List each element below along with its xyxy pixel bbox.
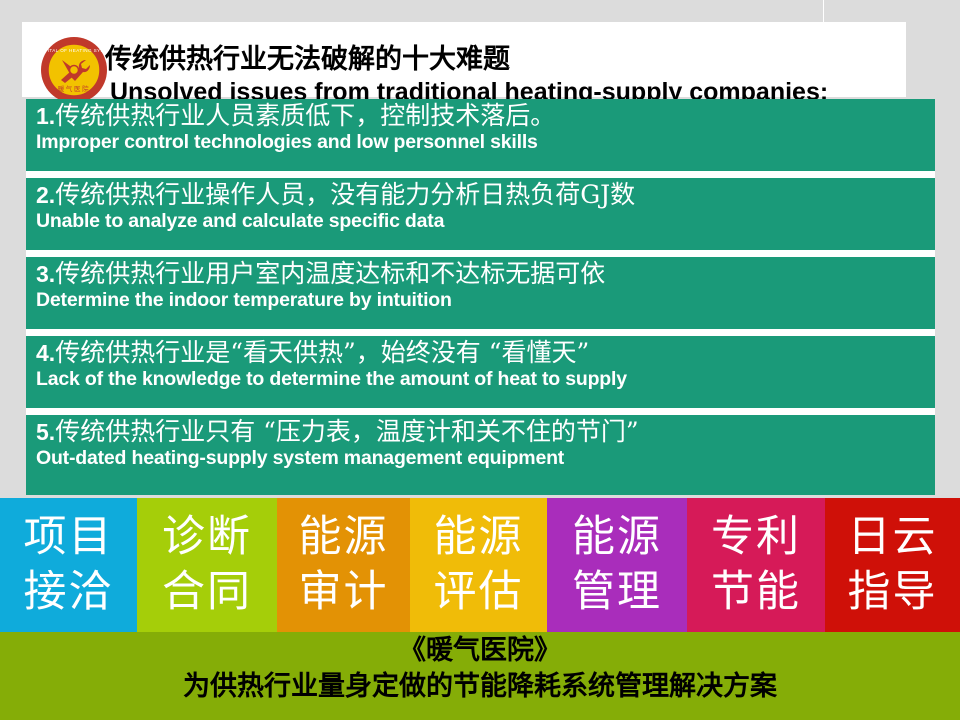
service-tile-energy-audit[interactable]: 能源 审计 — [277, 498, 410, 632]
issue-text-chinese: 2.传统供热行业操作人员，没有能力分析日热负荷GJ数 — [36, 180, 635, 210]
service-tile-diagnosis-contract[interactable]: 诊断 合同 — [137, 498, 277, 632]
tile-line-1: 专利 — [711, 510, 801, 565]
tile-line-2: 指导 — [848, 565, 938, 620]
issue-number: 1. — [36, 103, 55, 129]
service-tile-energy-management[interactable]: 能源 管理 — [547, 498, 687, 632]
issue-text-english: Determine the indoor temperature by intu… — [36, 291, 452, 311]
tile-line-2: 审计 — [299, 565, 389, 620]
tile-line-2: 节能 — [711, 565, 801, 620]
tile-line-1: 能源 — [299, 510, 389, 565]
issue-item-2: 2.传统供热行业操作人员，没有能力分析日热负荷GJ数 Unable to ana… — [26, 178, 935, 250]
service-tile-strip: 项目 接洽 诊断 合同 能源 审计 能源 评估 能源 管理 专利 节能 日云 指… — [0, 498, 960, 632]
issue-number: 3. — [36, 261, 55, 287]
issue-item-1: 1.传统供热行业人员素质低下，控制技术落后。 Improper control … — [26, 99, 935, 171]
issue-chinese-body: 传统供热行业人员素质低下，控制技术落后。 — [55, 101, 555, 130]
presentation-slide: HOSPITAL OF HEATING SYSTEM 暖气医院 传统供热行业无法… — [0, 0, 960, 720]
footer-brand-name: 《暖气医院》 — [0, 636, 960, 666]
issue-chinese-body: 传统供热行业用户室内温度达标和不达标无据可依 — [55, 259, 605, 288]
header-card: HOSPITAL OF HEATING SYSTEM 暖气医院 传统供热行业无法… — [22, 22, 906, 97]
issue-number: 5. — [36, 419, 55, 445]
issue-item-5: 5.传统供热行业只有 “压力表，温度计和关不住的节门” Out-dated he… — [26, 415, 935, 495]
issue-number: 2. — [36, 182, 55, 208]
service-tile-energy-assessment[interactable]: 能源 评估 — [410, 498, 547, 632]
tile-line-1: 能源 — [434, 510, 524, 565]
issue-chinese-body: 传统供热行业是“看天供热”，始终没有 “看懂天” — [55, 338, 589, 367]
issue-text-english: Unable to analyze and calculate specific… — [36, 212, 444, 232]
svg-text:HOSPITAL OF HEATING SYSTEM: HOSPITAL OF HEATING SYSTEM — [40, 48, 108, 53]
issue-text-chinese: 4.传统供热行业是“看天供热”，始终没有 “看懂天” — [36, 338, 589, 368]
issue-text-chinese: 3.传统供热行业用户室内温度达标和不达标无据可依 — [36, 259, 605, 289]
background-top-band — [0, 0, 960, 12]
issue-list: 1.传统供热行业人员素质低下，控制技术落后。 Improper control … — [26, 99, 935, 495]
footer-banner: 《暖气医院》 为供热行业量身定做的节能降耗系统管理解决方案 — [0, 632, 960, 720]
footer-tagline: 为供热行业量身定做的节能降耗系统管理解决方案 — [0, 672, 960, 702]
issue-text-english: Out-dated heating-supply system manageme… — [36, 449, 564, 469]
issue-text-english: Lack of the knowledge to determine the a… — [36, 370, 627, 390]
issue-chinese-body: 传统供热行业只有 “压力表，温度计和关不住的节门” — [55, 417, 639, 446]
tile-line-1: 日云 — [848, 510, 938, 565]
service-tile-project-contact[interactable]: 项目 接洽 — [0, 498, 137, 632]
tile-line-2: 管理 — [572, 565, 662, 620]
issue-item-4: 4.传统供热行业是“看天供热”，始终没有 “看懂天” Lack of the k… — [26, 336, 935, 408]
issue-item-3: 3.传统供热行业用户室内温度达标和不达标无据可依 Determine the i… — [26, 257, 935, 329]
tile-line-1: 项目 — [24, 510, 114, 565]
header-title-chinese: 传统供热行业无法破解的十大难题 — [105, 46, 510, 73]
tile-line-1: 诊断 — [162, 510, 252, 565]
issue-text-english: Improper control technologies and low pe… — [36, 133, 538, 153]
tile-line-1: 能源 — [572, 510, 662, 565]
company-logo-icon: HOSPITAL OF HEATING SYSTEM 暖气医院 — [40, 36, 108, 104]
issue-chinese-body: 传统供热行业操作人员，没有能力分析日热负荷GJ数 — [55, 180, 635, 209]
issue-number: 4. — [36, 340, 55, 366]
service-tile-daily-cloud-guidance[interactable]: 日云 指导 — [825, 498, 960, 632]
tile-line-2: 合同 — [162, 565, 252, 620]
tile-line-2: 接洽 — [24, 565, 114, 620]
issue-text-chinese: 1.传统供热行业人员素质低下，控制技术落后。 — [36, 101, 555, 131]
svg-text:暖气医院: 暖气医院 — [58, 84, 90, 93]
issue-text-chinese: 5.传统供热行业只有 “压力表，温度计和关不住的节门” — [36, 417, 639, 447]
service-tile-patent-energy-saving[interactable]: 专利 节能 — [687, 498, 825, 632]
tile-line-2: 评估 — [434, 565, 524, 620]
